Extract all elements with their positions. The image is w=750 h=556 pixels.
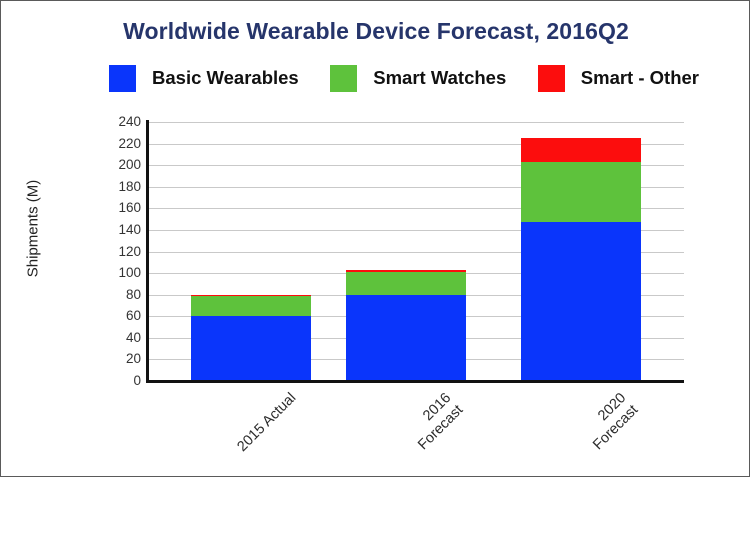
y-tick-label-20: 20 — [105, 352, 141, 366]
y-tick-label-160: 160 — [105, 201, 141, 215]
bar-segment-2020-forecast-smart-other[interactable] — [521, 138, 641, 162]
y-tick-label-80: 80 — [105, 288, 141, 302]
x-tick-label-2020-forecast: 2020 Forecast — [477, 390, 643, 556]
bar-segment-2015-actual-smart-watches[interactable] — [191, 296, 311, 317]
y-axis-tick-labels: 020406080100120140160180200220240 — [101, 1, 141, 478]
y-tick-label-60: 60 — [105, 309, 141, 323]
y-axis-title: Shipments (M) — [25, 159, 42, 299]
legend-label-smart-other: Smart - Other — [581, 67, 699, 89]
chart-page: Worldwide Wearable Device Forecast, 2016… — [0, 0, 750, 477]
y-tick-label-40: 40 — [105, 331, 141, 345]
legend-swatch-smart-other — [538, 65, 565, 92]
x-axis-line — [146, 380, 684, 383]
bar-segment-2015-actual-smart-other[interactable] — [191, 295, 311, 296]
bar-segment-2020-forecast-basic-wearables[interactable] — [521, 222, 641, 381]
y-tick-label-200: 200 — [105, 158, 141, 172]
bar-group-2015-actual — [191, 122, 311, 381]
legend-label-basic-wearables: Basic Wearables — [152, 67, 299, 89]
y-tick-label-100: 100 — [105, 266, 141, 280]
legend-item-smart-other[interactable]: Smart - Other — [538, 65, 699, 92]
x-tick-label-2015-actual: 2015 Actual — [147, 390, 301, 544]
y-tick-label-180: 180 — [105, 180, 141, 194]
bar-group-2020-forecast — [521, 122, 641, 381]
bar-segment-2015-actual-basic-wearables[interactable] — [191, 316, 311, 381]
plot-area — [149, 122, 684, 381]
y-axis-line — [146, 120, 149, 383]
bar-segment-2016-forecast-smart-watches[interactable] — [346, 272, 466, 295]
legend-swatch-smart-watches — [330, 65, 357, 92]
legend-item-smart-watches[interactable]: Smart Watches — [330, 65, 506, 92]
y-tick-label-120: 120 — [105, 245, 141, 259]
x-tick-label-2016-forecast: 2016 Forecast — [302, 390, 468, 556]
legend-label-smart-watches: Smart Watches — [373, 67, 506, 89]
bar-segment-2016-forecast-basic-wearables[interactable] — [346, 295, 466, 381]
bar-segment-2016-forecast-smart-other[interactable] — [346, 270, 466, 272]
bar-group-2016-forecast — [346, 122, 466, 381]
y-tick-label-0: 0 — [105, 374, 141, 388]
y-tick-label-220: 220 — [105, 137, 141, 151]
y-tick-label-240: 240 — [105, 115, 141, 129]
bar-segment-2020-forecast-smart-watches[interactable] — [521, 162, 641, 222]
chart-legend: Basic Wearables Smart Watches Smart - Ot… — [109, 63, 699, 93]
y-tick-label-140: 140 — [105, 223, 141, 237]
